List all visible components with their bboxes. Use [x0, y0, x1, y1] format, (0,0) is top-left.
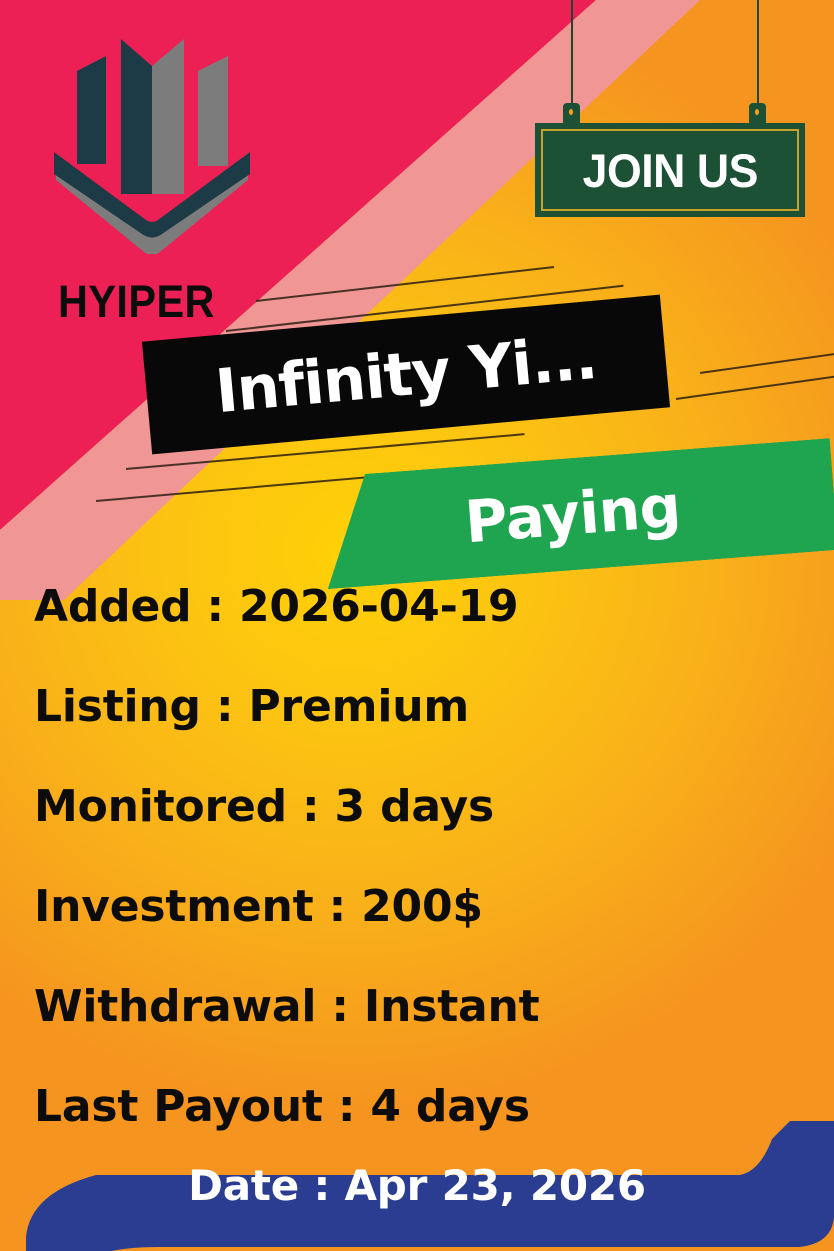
detail-investment: Investment : 200$ [34, 881, 483, 932]
detail-added: Added : 2026-04-19 [34, 581, 518, 632]
join-us-sign[interactable]: JOIN US [527, 0, 813, 224]
sign-string-left [571, 0, 573, 110]
sign-string-right [757, 0, 759, 110]
footer-bar: Date : Apr 23, 2026 [0, 1121, 834, 1251]
details-list: Added : 2026-04-19 Listing : Premium Mon… [34, 556, 794, 1156]
detail-row-investment: Investment : 200$ [34, 856, 794, 956]
detail-monitored: Monitored : 3 days [34, 781, 494, 832]
hyip-listing-card: HYIPER JOIN US Infinity Yi... Paying Add… [0, 0, 834, 1251]
sign-board[interactable]: JOIN US [535, 123, 805, 217]
status-label: Paying [462, 472, 682, 556]
brand-name: HYIPER [58, 276, 215, 328]
detail-row-listing: Listing : Premium [34, 656, 794, 756]
join-us-label: JOIN US [582, 143, 757, 198]
detail-listing: Listing : Premium [34, 681, 469, 732]
program-name: Infinity Yi... [213, 322, 600, 426]
sign-inner-border: JOIN US [541, 129, 799, 211]
building-chevron-logo-icon [52, 34, 292, 254]
detail-row-added: Added : 2026-04-19 [34, 556, 794, 656]
footer-date: Date : Apr 23, 2026 [0, 1161, 834, 1210]
detail-row-monitored: Monitored : 3 days [34, 756, 794, 856]
detail-row-withdrawal: Withdrawal : Instant [34, 956, 794, 1056]
detail-withdrawal: Withdrawal : Instant [34, 981, 539, 1032]
